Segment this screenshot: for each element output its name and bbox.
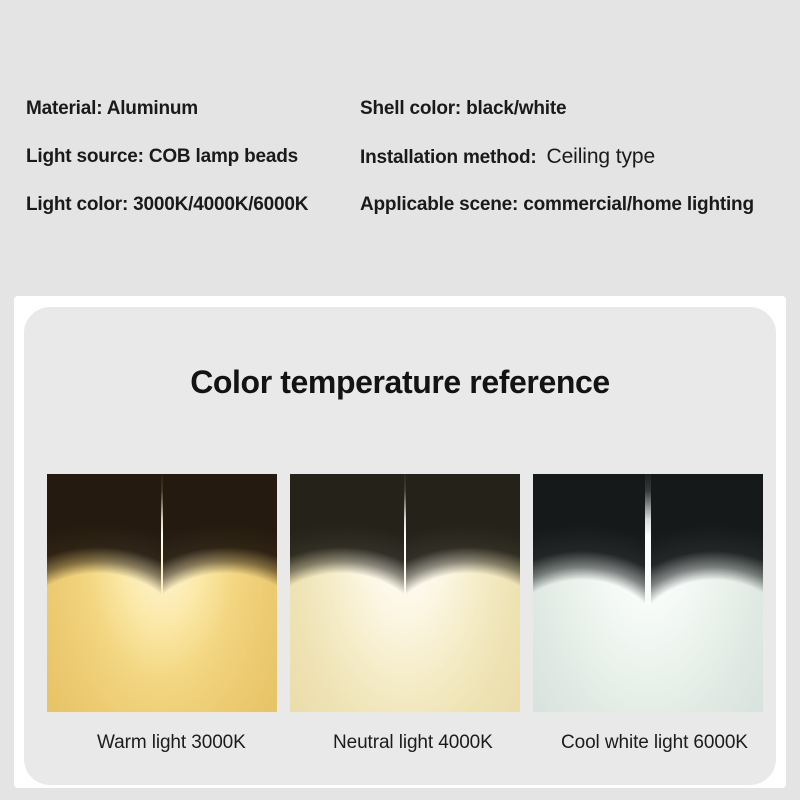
spec-item-light-color: Light color: 3000K/4000K/6000K: [26, 195, 308, 214]
light-beam-image-neutral: [290, 474, 520, 712]
spec-item-light-source: Light source: COB lamp beads: [26, 147, 298, 166]
color-temperature-reference-card: Color temperature reference: [24, 307, 776, 785]
spec-installation-method-label: Installation method:: [360, 148, 537, 167]
spec-material-label: Material: Aluminum: [26, 99, 198, 118]
spec-item-material: Material: Aluminum: [26, 99, 198, 118]
beam-corner-shadow-left: [290, 474, 404, 606]
color-temperature-sample-row: [47, 474, 763, 712]
spec-light-color-label: Light color: 3000K/4000K/6000K: [26, 195, 308, 214]
caption-warm-3000k: Warm light 3000K: [97, 732, 246, 754]
reference-card-title: Color temperature reference: [24, 364, 776, 401]
spec-item-shell-color: Shell color: black/white: [360, 99, 566, 118]
spec-installation-method-value: Ceiling type: [547, 146, 656, 167]
sample-warm-3000k: [47, 474, 277, 712]
spec-row: Material: Aluminum Shell color: black/wh…: [0, 84, 800, 132]
light-beam-image-warm: [47, 474, 277, 712]
caption-cool-white-6000k: Cool white light 6000K: [561, 732, 748, 754]
beam-corner-shadow-right: [651, 474, 763, 614]
color-temperature-reference-frame: Color temperature reference: [14, 296, 786, 788]
beam-corner-shadow-right: [406, 474, 520, 606]
color-temperature-caption-row: Warm light 3000K Neutral light 4000K Coo…: [47, 732, 763, 766]
spec-light-source-label: Light source: COB lamp beads: [26, 147, 298, 166]
spec-item-installation-method: Installation method: Ceiling type: [360, 146, 655, 167]
spec-row: Light source: COB lamp beads Installatio…: [0, 132, 800, 180]
spec-shell-color-label: Shell color: black/white: [360, 99, 566, 118]
sample-cool-white-6000k: [533, 474, 763, 712]
beam-corner-shadow-right: [163, 474, 277, 606]
caption-neutral-4000k: Neutral light 4000K: [333, 732, 493, 754]
light-beam-image-cool-white: [533, 474, 763, 712]
sample-neutral-4000k: [290, 474, 520, 712]
beam-corner-shadow-left: [533, 474, 645, 614]
specification-list: Material: Aluminum Shell color: black/wh…: [0, 84, 800, 224]
spec-applicable-scene-label: Applicable scene: commercial/home lighti…: [360, 195, 754, 214]
spec-item-applicable-scene: Applicable scene: commercial/home lighti…: [360, 195, 754, 214]
spec-row: Light color: 3000K/4000K/6000K Applicabl…: [0, 180, 800, 228]
beam-corner-shadow-left: [47, 474, 161, 606]
